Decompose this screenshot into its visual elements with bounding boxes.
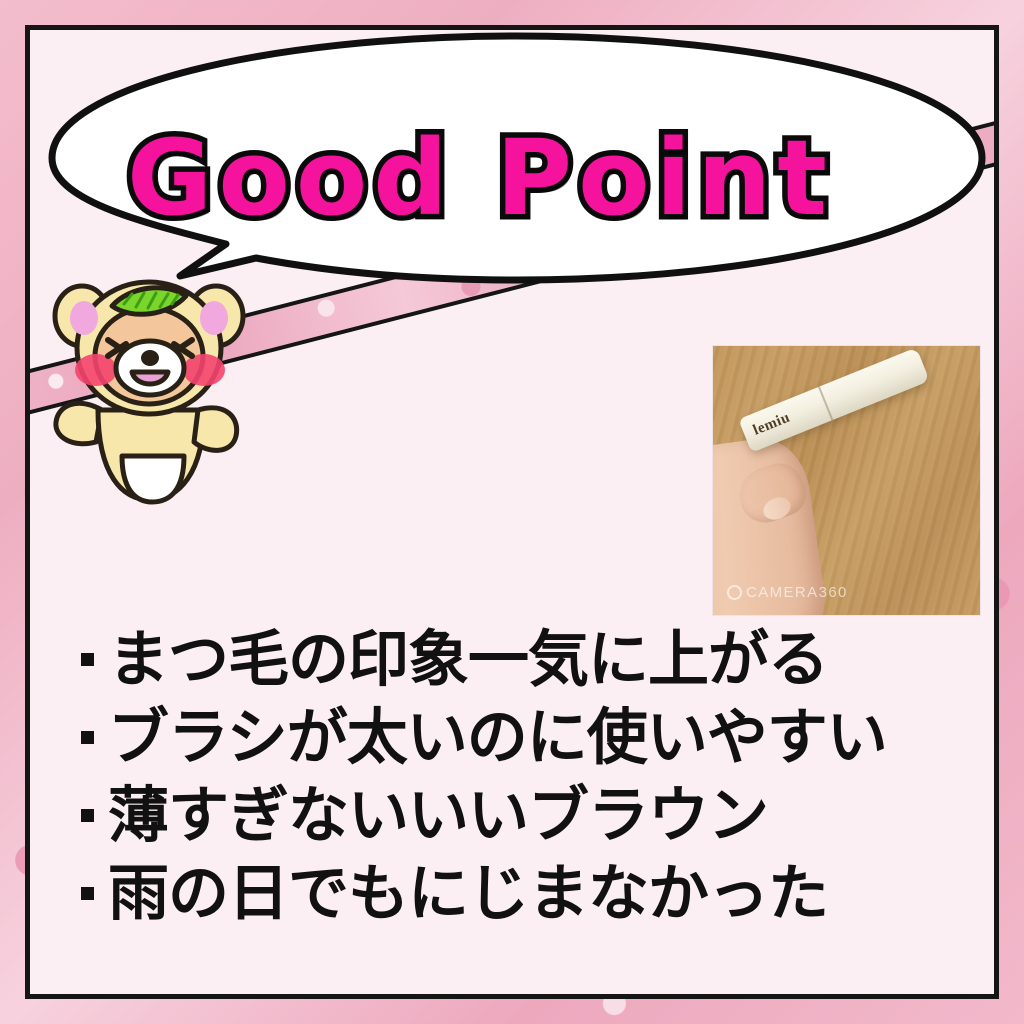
list-item-label: 薄すぎないいいブラウン (108, 785, 768, 846)
poster-card: Good Point (25, 25, 999, 999)
bullet-square-icon (66, 809, 108, 822)
camera-lens-icon (727, 585, 742, 600)
product-brand-label: lemiu (751, 410, 793, 440)
list-item-label: ブラシが太いのに使いやすい (108, 707, 887, 768)
camera-watermark-text: CAMERA360 (746, 584, 848, 601)
poster-root: Good Point (0, 0, 1024, 1024)
product-photo: lemiu CAMERA360 (713, 346, 980, 615)
good-point-list: まつ毛の印象一気に上がる ブラシが太いのに使いやすい 薄すぎないいいブラウン 雨… (66, 620, 976, 932)
list-item: ブラシが太いのに使いやすい (66, 698, 976, 776)
bullet-square-icon (66, 653, 108, 666)
bullet-square-icon (66, 731, 108, 744)
list-item: まつ毛の印象一気に上がる (66, 620, 976, 698)
camera-watermark: CAMERA360 (727, 584, 848, 601)
list-item-label: 雨の日でもにじまなかった (108, 863, 828, 924)
list-item-label: まつ毛の印象一気に上がる (108, 629, 828, 690)
tube-seam (818, 386, 833, 420)
bullet-square-icon (66, 887, 108, 900)
list-item: 薄すぎないいいブラウン (66, 776, 976, 854)
speech-bubble (30, 30, 999, 330)
list-item: 雨の日でもにじまなかった (66, 854, 976, 932)
